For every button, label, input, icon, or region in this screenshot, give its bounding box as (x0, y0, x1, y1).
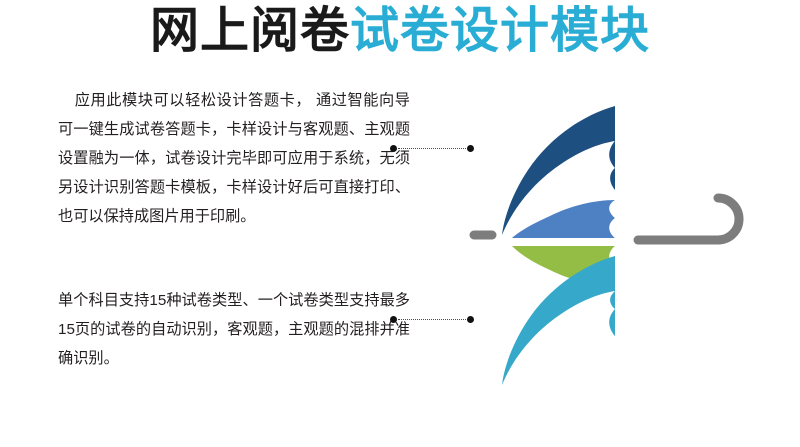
title-primary-text: 网上阅卷 (150, 4, 350, 58)
umbrella-panel-teal (502, 256, 615, 385)
body-paragraph-2: 单个科目支持15种试卷类型、一个试卷类型支持最多15页的试卷的自动识别，客观题，… (58, 286, 410, 373)
body-paragraph-1-text: 应用此模块可以轻松设计答题卡， 通过智能向导可一键生成试卷答题卡，卡样设计与客观… (58, 92, 410, 225)
umbrella-illustration (452, 88, 752, 388)
umbrella-handle-icon (638, 198, 739, 240)
page-title: 网上阅卷试卷设计模块 (0, 2, 800, 60)
title-accent-text: 试卷设计模块 (350, 4, 650, 58)
connector-dot-left-2 (390, 316, 397, 323)
body-paragraph-2-text: 单个科目支持15种试卷类型、一个试卷类型支持最多15页的试卷的自动识别，客观题，… (58, 292, 410, 367)
body-paragraph-1: 应用此模块可以轻松设计答题卡， 通过智能向导可一键生成试卷答题卡，卡样设计与客观… (58, 86, 410, 231)
umbrella-svg (452, 88, 752, 388)
umbrella-panel-blue (512, 200, 615, 238)
connector-dot-left-1 (390, 145, 397, 152)
slide-canvas: 网上阅卷试卷设计模块 应用此模块可以轻松设计答题卡， 通过智能向导可一键生成试卷… (0, 0, 800, 447)
